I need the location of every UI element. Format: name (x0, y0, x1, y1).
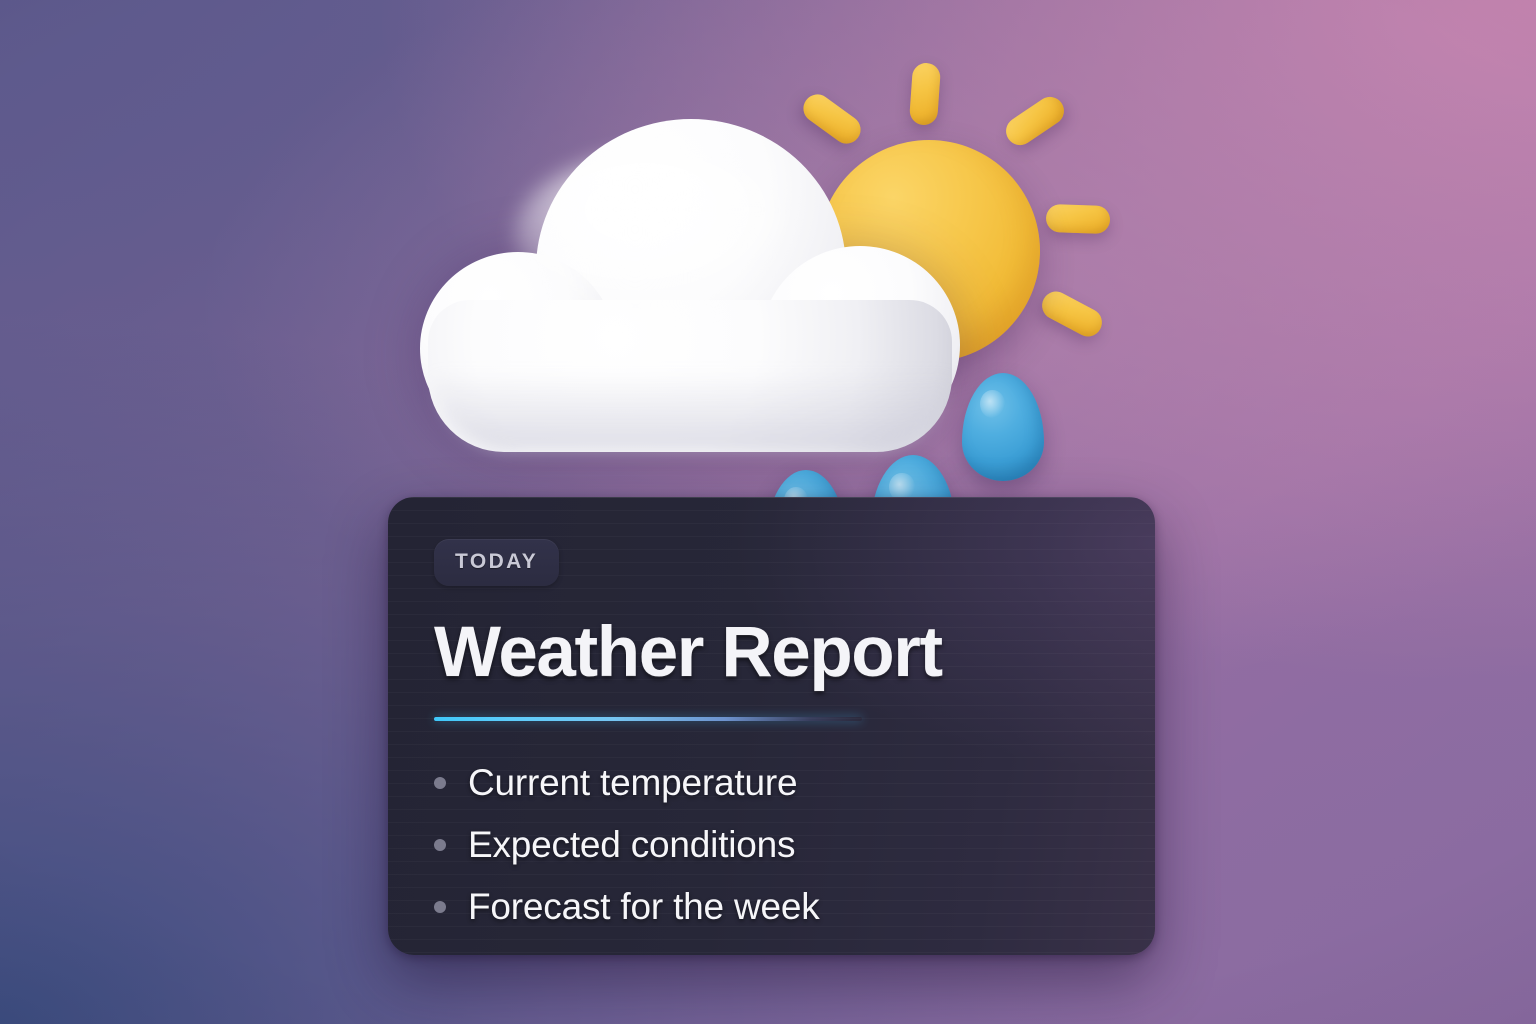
weather-report-card: TODAY Weather Report Current temperature… (388, 497, 1155, 955)
list-item-label: Expected conditions (468, 824, 795, 866)
status-badge-today: TODAY (434, 539, 559, 586)
list-item-label: Forecast for the week (468, 886, 820, 928)
list-item: Expected conditions (434, 824, 1155, 866)
list-item: Forecast for the week (434, 886, 1155, 928)
list-item-label: Current temperature (468, 762, 797, 804)
cloud-highlight (515, 150, 815, 320)
report-bullet-list: Current temperature Expected conditions … (434, 762, 1155, 928)
cloud-underside-shade (432, 372, 952, 452)
list-item: Current temperature (434, 762, 1155, 804)
bullet-dot-icon (434, 839, 446, 851)
bullet-dot-icon (434, 777, 446, 789)
weather-report-poster: TODAY Weather Report Current temperature… (0, 0, 1536, 1024)
bullet-dot-icon (434, 901, 446, 913)
title-divider (434, 717, 862, 721)
page-title: Weather Report (434, 615, 1155, 690)
